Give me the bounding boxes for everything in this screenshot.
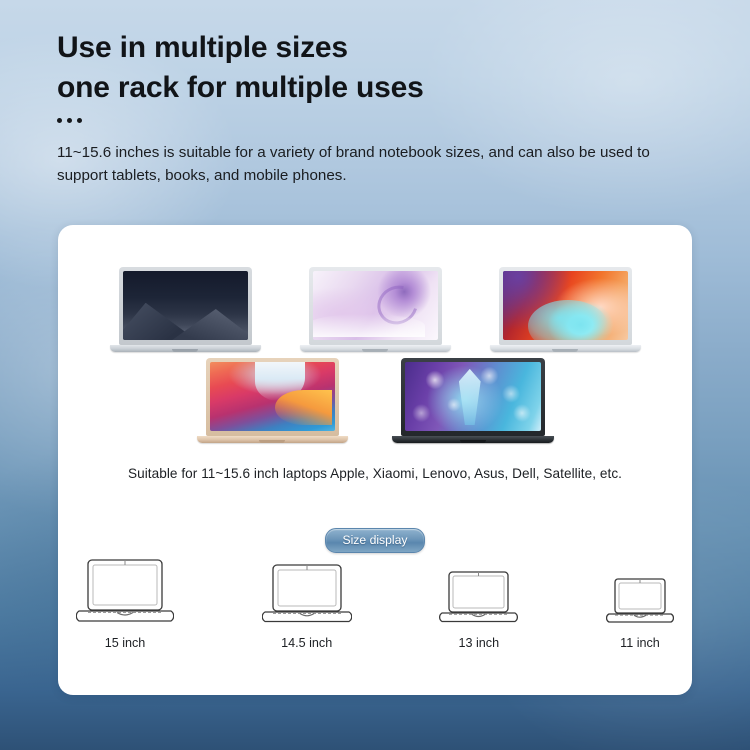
laptop-outline-icon (76, 557, 174, 623)
size-item-14-5-inch: 14.5 inch (262, 562, 352, 650)
size-comparison-row: 15 inch 14.5 inch 13 inch (76, 557, 674, 650)
laptop-photo-macbook-air-bigsur (206, 358, 339, 443)
size-item-15-inch: 15 inch (76, 557, 174, 650)
size-item-11-inch: 11 inch (606, 576, 674, 650)
headline-line-2: one rack for multiple uses (57, 68, 697, 108)
laptop-lid (401, 358, 545, 436)
laptop-outline-icon (262, 562, 352, 623)
laptop-base (392, 436, 554, 443)
page-subtext: 11~15.6 inches is suitable for a variety… (57, 141, 682, 187)
size-label: 15 inch (105, 636, 146, 650)
laptop-photo-redmibook-spectrum (499, 267, 632, 352)
laptop-photo-row-2 (58, 358, 692, 443)
laptop-lid (206, 358, 339, 436)
laptop-lid (119, 267, 252, 345)
laptop-notch (172, 349, 198, 352)
wallpaper-spectrum (503, 271, 628, 340)
laptop-lid (499, 267, 632, 345)
laptop-notch (460, 440, 486, 443)
laptop-base (110, 345, 261, 352)
wallpaper-bigsur (210, 362, 335, 431)
ellipsis-decoration (57, 117, 697, 124)
laptop-photo-thinkpad-bokeh (401, 358, 545, 443)
content-card: Suitable for 11~15.6 inch laptops Apple,… (58, 225, 692, 695)
laptop-screen (210, 362, 335, 431)
laptop-base (197, 436, 348, 443)
page-header: Use in multiple sizes one rack for multi… (57, 28, 697, 187)
laptop-lid (309, 267, 442, 345)
laptop-screen (123, 271, 248, 340)
laptop-notch (362, 349, 388, 352)
dot-1 (57, 118, 62, 123)
laptop-base (490, 345, 641, 352)
laptop-base (300, 345, 451, 352)
page-title: Use in multiple sizes one rack for multi… (57, 28, 697, 108)
laptop-screen (503, 271, 628, 340)
laptop-outline-icon (439, 569, 518, 623)
laptop-photo-matebook-swirl (309, 267, 442, 352)
size-label: 14.5 inch (281, 636, 332, 650)
dot-3 (77, 118, 82, 123)
laptop-notch (552, 349, 578, 352)
laptop-screen (313, 271, 438, 340)
size-label: 13 inch (459, 636, 500, 650)
laptop-outline-icon (606, 576, 674, 623)
compatibility-caption: Suitable for 11~15.6 inch laptops Apple,… (58, 466, 692, 481)
wallpaper-swirl (313, 271, 438, 340)
laptop-screen (405, 362, 541, 431)
laptop-photo-macbook-mojave (119, 267, 252, 352)
headline-line-1: Use in multiple sizes (57, 28, 697, 68)
laptop-photo-row-1 (58, 267, 692, 352)
size-label: 11 inch (620, 636, 660, 650)
laptop-notch (259, 440, 285, 443)
size-item-13-inch: 13 inch (439, 569, 518, 650)
wallpaper-bokeh (405, 362, 541, 431)
dot-2 (67, 118, 72, 123)
wallpaper-mojave (123, 271, 248, 340)
size-display-badge: Size display (325, 528, 424, 553)
size-display-badge-wrap: Size display (58, 528, 692, 553)
